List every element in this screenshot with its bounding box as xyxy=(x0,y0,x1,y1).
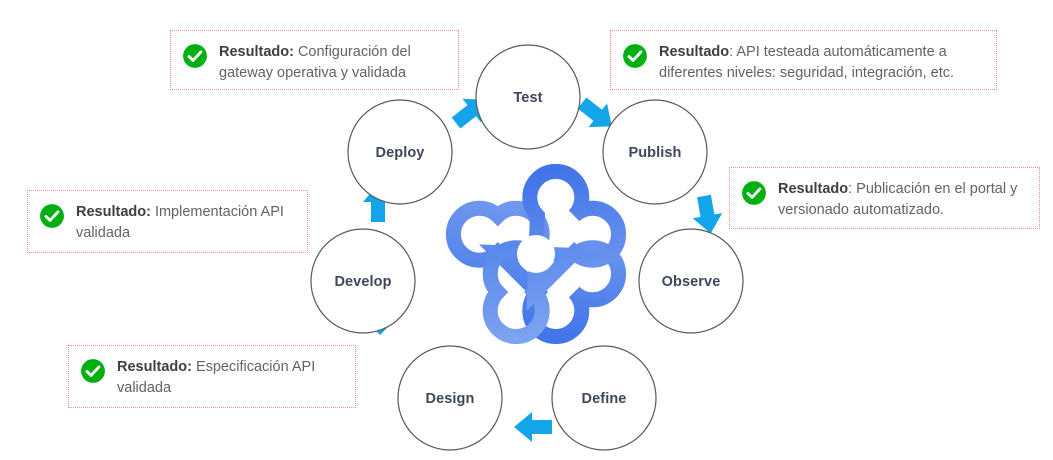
node-develop[interactable]: Develop xyxy=(311,229,415,333)
arrow-define-to-design xyxy=(514,412,552,442)
callout-publish-label: Resultado xyxy=(778,181,848,197)
callout-deploy-text: Resultado: Configuración del gateway ope… xyxy=(219,42,446,84)
callout-publish: Resultado: Publicación en el portal y ve… xyxy=(729,167,1040,229)
node-observe[interactable]: Observe xyxy=(639,229,743,333)
node-test[interactable]: Test xyxy=(476,45,580,149)
callout-deploy-label: Resultado: xyxy=(219,44,294,60)
node-define[interactable]: Define xyxy=(552,346,656,450)
node-deploy-label: Deploy xyxy=(376,145,425,161)
callout-test: Resultado: API testeada automáticamente … xyxy=(610,30,997,90)
node-test-label: Test xyxy=(513,90,542,106)
callout-develop-text: Resultado: Implementación API validada xyxy=(76,202,295,244)
node-publish[interactable]: Publish xyxy=(603,100,707,204)
callout-test-label: Resultado xyxy=(659,44,729,60)
node-publish-label: Publish xyxy=(628,145,681,161)
node-observe-label: Observe xyxy=(662,274,721,290)
check-circle-icon xyxy=(80,358,106,384)
check-circle-icon xyxy=(741,180,767,206)
node-design[interactable]: Design xyxy=(398,346,502,450)
check-circle-icon xyxy=(622,43,648,69)
node-develop-label: Develop xyxy=(334,274,391,290)
check-circle-icon xyxy=(182,43,208,69)
apigee-infinity-logo xyxy=(443,161,630,348)
callout-design-text: Resultado: Especificación API validada xyxy=(117,357,343,399)
callout-design: Resultado: Especificación API validada xyxy=(68,345,356,408)
callout-publish-text: Resultado: Publicación en el portal y ve… xyxy=(778,179,1027,221)
node-define-label: Define xyxy=(582,391,627,407)
callout-develop: Resultado: Implementación API validada xyxy=(27,190,308,253)
check-circle-icon xyxy=(39,203,65,229)
callout-test-text: Resultado: API testeada automáticamente … xyxy=(659,42,984,84)
callout-develop-label: Resultado: xyxy=(76,204,151,220)
callout-design-label: Resultado: xyxy=(117,359,192,375)
node-deploy[interactable]: Deploy xyxy=(348,100,452,204)
diagram-canvas: TestPublishObserveDefineDesignDevelopDep… xyxy=(0,0,1053,460)
node-design-label: Design xyxy=(426,391,475,407)
callout-deploy: Resultado: Configuración del gateway ope… xyxy=(170,30,459,90)
